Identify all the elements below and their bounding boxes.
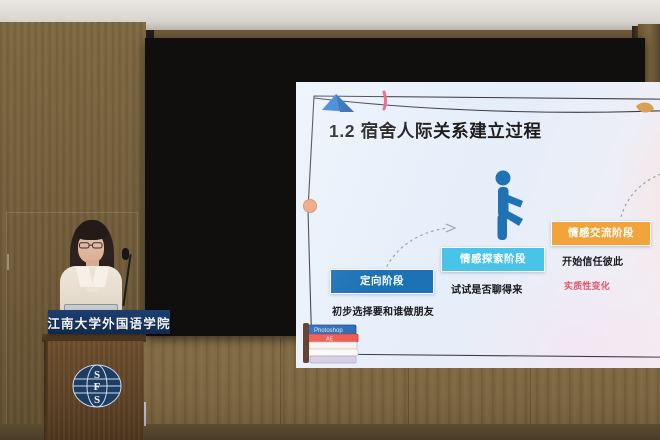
projection-screen-bezel: 1.2 宿舍人际关系建立过程 定向阶段 情感探索阶段 情感交流阶段 [145, 38, 645, 336]
presenter-bangs [75, 224, 107, 240]
stage-chip-3[interactable]: 情感交流阶段 [551, 221, 651, 246]
pink-stroke-decoration [384, 92, 386, 109]
stage-caption-3: 开始信任彼此 [562, 256, 660, 270]
blue-triangle-pennant [322, 94, 354, 112]
stage-label: 定向阶段 [360, 276, 404, 287]
stage-note-3: 实质性变化 [564, 280, 660, 293]
microphone-stand [122, 254, 131, 306]
slide-title: 1.2 宿舍人际关系建立过程 [329, 118, 542, 143]
book-stack-decoration: Photoshop AE [302, 319, 364, 367]
projection-screen[interactable]: 1.2 宿舍人际关系建立过程 定向阶段 情感探索阶段 情感交流阶段 [296, 82, 660, 368]
presenter-and-podium: 江南大学外国语学院 S F S [34, 210, 150, 440]
glasses-icon [79, 242, 103, 249]
stage-label: 情感探索阶段 [460, 254, 526, 265]
podium-banner-text: 江南大学外国语学院 [47, 313, 170, 332]
microphone-icon [122, 248, 129, 260]
svg-text:S: S [94, 394, 100, 406]
stage-chip-2[interactable]: 情感探索阶段 [441, 247, 545, 272]
conference-room-scene: 1.2 宿舍人际关系建立过程 定向阶段 情感探索阶段 情感交流阶段 [0, 0, 660, 440]
walking-person-icon [479, 170, 535, 242]
door-handle [7, 254, 9, 270]
stage-chip-1[interactable]: 定向阶段 [330, 269, 434, 294]
panel-seam [280, 338, 281, 438]
podium-banner: 江南大学外国语学院 [48, 310, 170, 334]
svg-text:S: S [94, 369, 100, 381]
svg-text:Photoshop: Photoshop [314, 328, 343, 334]
stage-label: 情感交流阶段 [568, 228, 634, 239]
stage-caption-2: 试试是否聊得来 [451, 284, 571, 298]
leaf-decoration [636, 102, 654, 112]
sfs-globe-logo: S F S [71, 361, 123, 411]
svg-text:F: F [94, 381, 101, 393]
